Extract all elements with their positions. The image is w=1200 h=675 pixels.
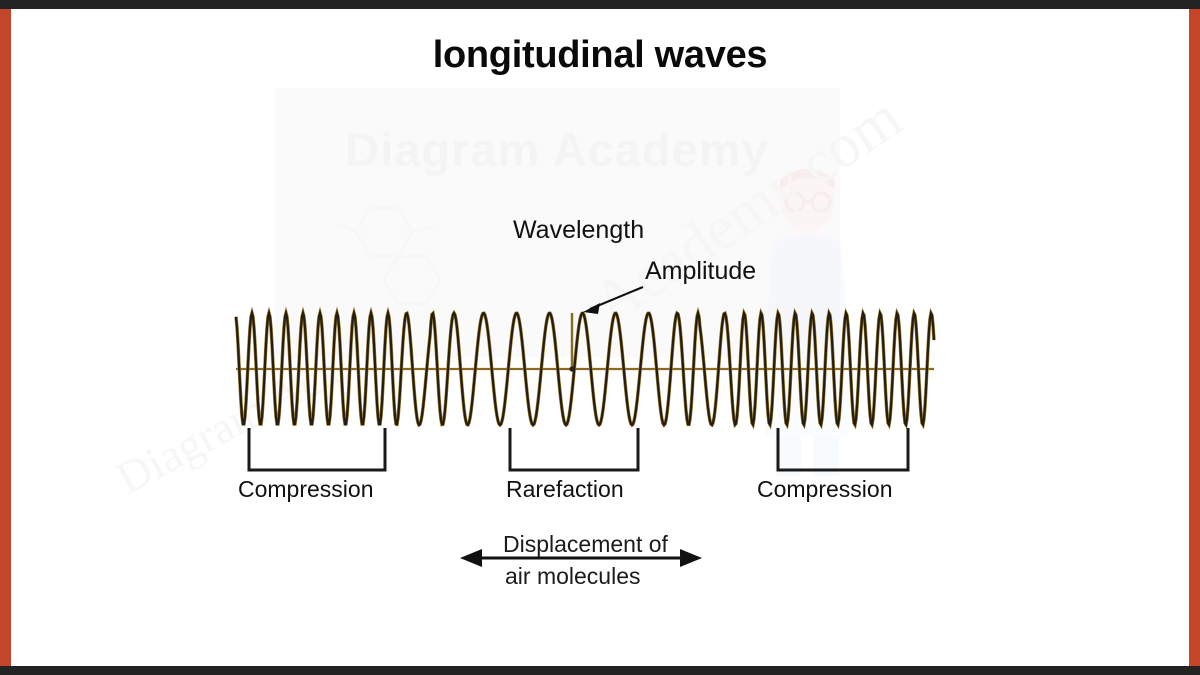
amplitude-marker-dot — [569, 366, 574, 371]
frame-bottom-bar — [0, 666, 1200, 675]
bracket-compression-left — [249, 428, 385, 470]
label-compression-right: Compression — [757, 476, 893, 503]
label-rarefaction: Rarefaction — [506, 476, 624, 503]
amplitude-arrow — [583, 287, 643, 314]
label-displacement-line1: Displacement of — [503, 531, 668, 558]
label-compression-left: Compression — [238, 476, 374, 503]
bracket-compression-right — [778, 428, 908, 470]
label-displacement-line2: air molecules — [505, 563, 641, 590]
label-wavelength: Wavelength — [513, 216, 644, 245]
slide-canvas: Diagram Academy Academy.com Diagram Aca … — [0, 0, 1200, 675]
frame-top-bar — [0, 0, 1200, 9]
frame-left-bar — [0, 9, 11, 666]
bracket-rarefaction — [510, 428, 638, 470]
brackets-group — [249, 428, 908, 470]
label-amplitude: Amplitude — [645, 257, 756, 286]
frame-right-bar — [1189, 9, 1200, 666]
